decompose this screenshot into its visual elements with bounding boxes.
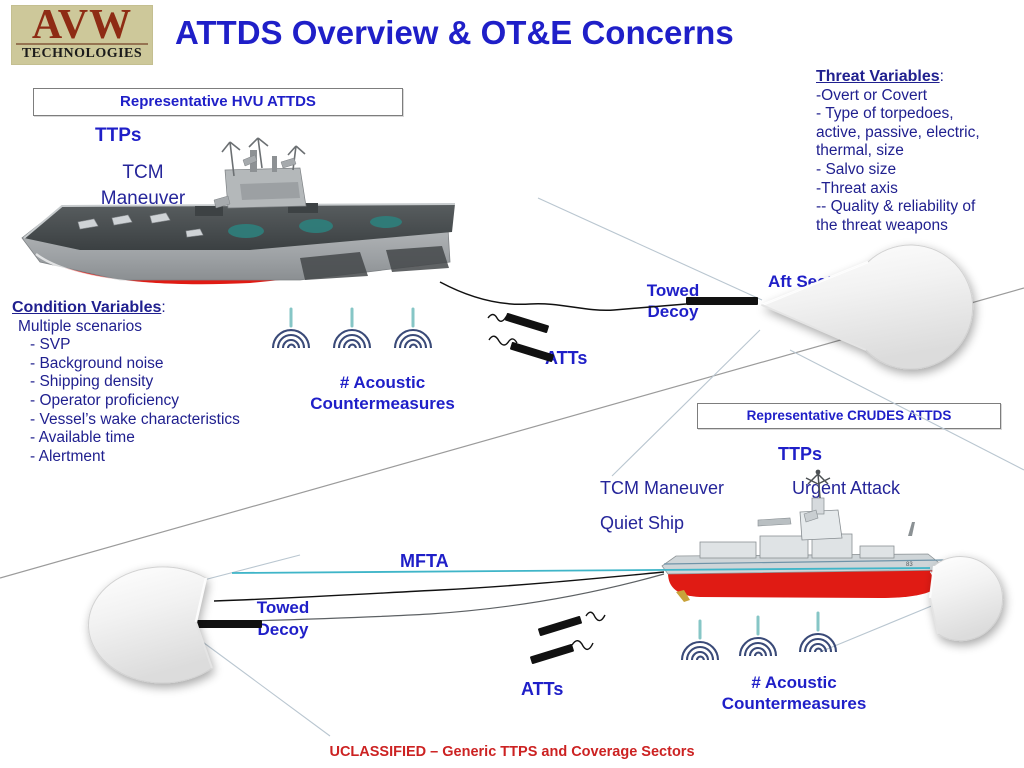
acm-icon-top-2	[334, 330, 370, 348]
hvu-deck-fitting-1	[195, 206, 223, 216]
atts-torpedo-top-2	[510, 342, 554, 363]
crudes-deckhouses	[700, 534, 894, 558]
hvu-ship-graphic	[22, 138, 455, 286]
atts-torpedo-bottom-1	[538, 616, 582, 637]
acm-icon-bottom-1	[682, 642, 718, 660]
slide-canvas: 83	[0, 0, 1024, 768]
acm-stem-group-bottom	[700, 613, 818, 638]
acoustic-countermeasure-group-bottom	[682, 634, 836, 660]
hms-wedge	[930, 557, 1003, 641]
towed-decoy-body-top	[686, 297, 758, 305]
crudes-superstructure	[800, 470, 842, 540]
atts-torpedo-bottom-2	[530, 644, 574, 665]
hvu-sponson-2	[386, 246, 449, 272]
atts-wake-bottom-1	[586, 612, 605, 620]
atts-wake-bottom-2	[572, 641, 593, 650]
crudes-towed-cable-upper	[214, 572, 664, 601]
hvu-towed-array-cable	[440, 282, 686, 310]
acm-icon-bottom-2	[740, 638, 776, 656]
acm-icon-top-1	[273, 330, 309, 348]
towed-decoy-body-bottom	[192, 620, 262, 628]
acm-icon-top-3	[395, 330, 431, 348]
acoustic-countermeasure-group-top	[273, 330, 431, 348]
hvu-deck-aircraft-2	[299, 219, 333, 233]
atts-torpedo-group-bottom	[530, 612, 605, 664]
hvu-deck-aircraft-3	[370, 216, 402, 228]
crudes-ship-graphic: 83	[662, 470, 958, 602]
hvu-deck-aircraft-1	[228, 224, 264, 238]
tdcl-bottom-wedge	[88, 567, 212, 683]
acm-stem-group-top	[291, 309, 413, 326]
crudes-hull-number: 83	[906, 562, 913, 568]
atts-torpedo-group-top	[488, 313, 554, 363]
hvu-island-superstructure	[214, 138, 306, 208]
crudes-stern-mast	[908, 522, 915, 536]
crudes-hull-red	[668, 570, 942, 598]
artwork-layer: 83	[0, 0, 1024, 768]
acm-icon-bottom-3	[800, 634, 836, 652]
crudes-gun-mount	[758, 518, 791, 526]
